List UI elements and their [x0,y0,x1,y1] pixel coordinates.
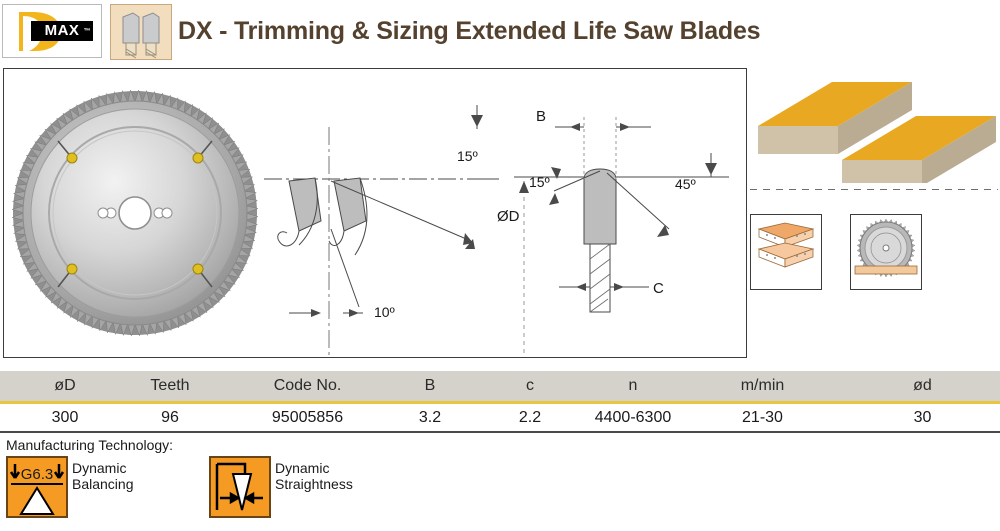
manufacturing-title: Manufacturing Technology: [6,437,173,453]
dynamic-straightness-glyph [211,458,269,516]
tooth-geometry-drawings: 15º 10º [259,69,746,357]
svg-text:15º: 15º [457,148,478,164]
dynamic-balancing-icon: G6.3 [6,456,68,518]
dynamic-straightness-line1: Dynamic [275,460,353,476]
technical-diagram-panel: 15º 10º [3,68,747,358]
td-c: 2.2 [480,404,580,431]
layered-panel-glyph [751,215,821,289]
logo-wordmark-text: MAX [45,22,80,39]
th-b: B [380,371,480,401]
th-m-min: m/min [700,371,825,401]
svg-text:G6.3: G6.3 [21,466,54,483]
td-code-no: 95005856 [235,404,380,431]
svg-text:B: B [536,108,546,125]
svg-text:ØD: ØD [497,208,520,225]
application-column [750,68,998,356]
td-n: 4400-6300 [578,404,688,431]
saw-tooth-tips-icon [110,4,172,60]
td-od-bore: 30 [860,404,985,431]
trademark-icon: ™ [84,22,92,42]
dynamic-balancing-line2: Balancing [72,476,134,492]
td-teeth: 96 [105,404,235,431]
svg-text:45º: 45º [675,176,696,192]
panel-blocks-graphic [750,68,998,183]
dynamic-balancing-line1: Dynamic [72,460,134,476]
table-row: 300 96 95005856 3.2 2.2 4400-6300 21-30 … [0,404,1000,433]
laminated-panel-workpiece-image [750,68,998,183]
th-c: c [480,371,580,401]
table-header-row: øD Teeth Code No. B c n m/min ød [0,371,1000,404]
datasheet-page: MAX ™ DX - Trimming & Sizing Extended Li… [0,0,1000,531]
th-code-no: Code No. [235,371,380,401]
dynamic-balancing-label: Dynamic Balancing [72,460,134,492]
dynamic-straightness-label: Dynamic Straightness [275,460,353,492]
th-teeth: Teeth [105,371,235,401]
saw-blade-graphic [10,73,260,353]
manufacturing-technology-section: Manufacturing Technology: G6.3 Dynamic B… [4,437,524,529]
geometry-graphic: 15º 10º [259,69,746,357]
dynamic-balancing-glyph: G6.3 [8,458,66,516]
page-title: DX - Trimming & Sizing Extended Life Saw… [178,17,760,46]
dynamic-straightness-line2: Straightness [275,476,353,492]
td-b: 3.2 [380,404,480,431]
blade-cutting-glyph [851,215,921,289]
blade-cutting-panel-icon [850,214,922,290]
page-header: MAX ™ DX - Trimming & Sizing Extended Li… [0,0,1000,62]
svg-text:C: C [653,280,664,297]
th-n: n [578,371,688,401]
svg-text:10º: 10º [374,304,395,320]
saw-tooth-tips-glyph [111,5,171,59]
dmax-logo: MAX ™ [2,4,102,58]
th-od-bore: ød [860,371,985,401]
section-divider [750,189,998,190]
td-m-min: 21-30 [700,404,825,431]
svg-text:15º: 15º [529,174,550,190]
circular-saw-blade-illustration [10,73,260,353]
dynamic-straightness-icon [209,456,271,518]
specification-table: øD Teeth Code No. B c n m/min ød 300 96 … [0,371,1000,433]
layered-panel-material-icon [750,214,822,290]
logo-wordmark: MAX ™ [31,21,93,41]
